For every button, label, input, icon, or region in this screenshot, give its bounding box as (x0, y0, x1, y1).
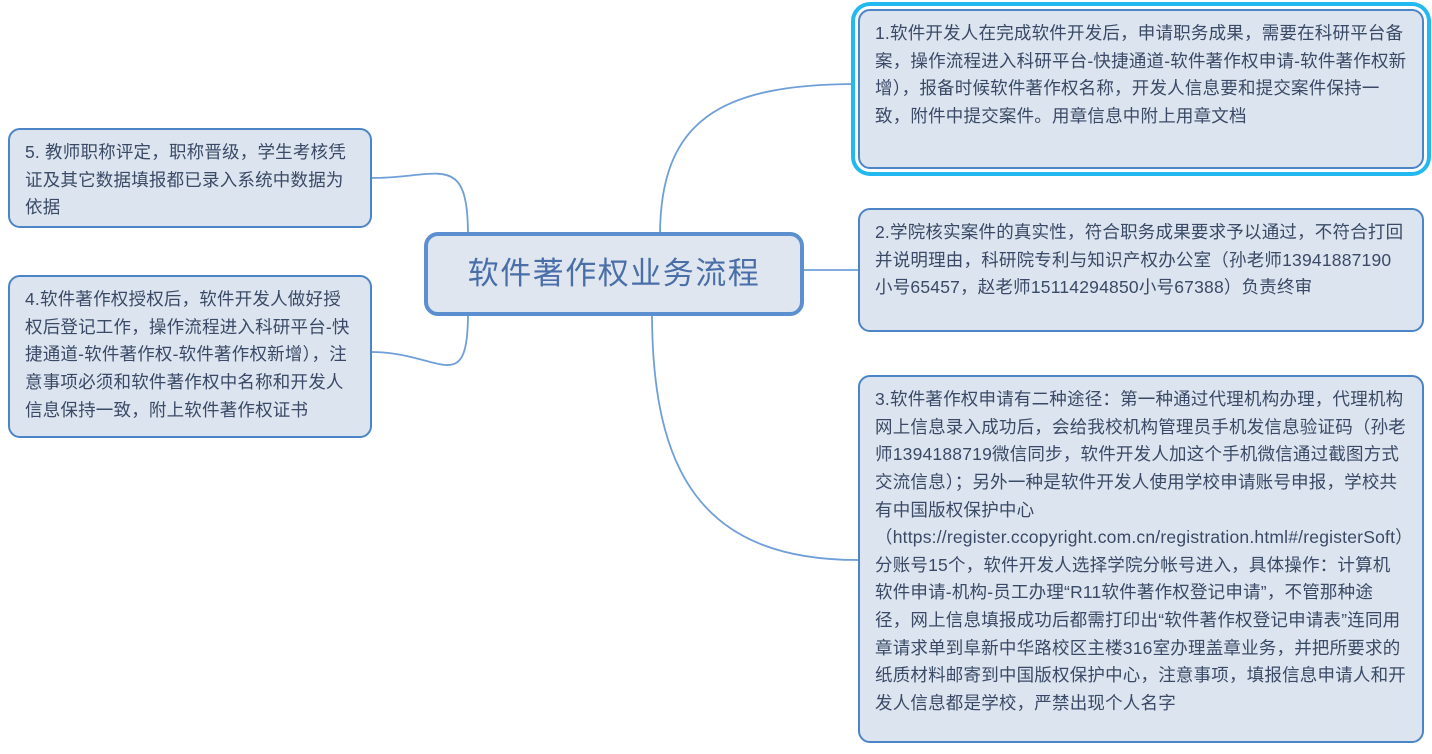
branch-node-4[interactable]: 4.软件著作权授权后，软件开发人做好授权后登记工作，操作流程进入科研平台-快捷通… (8, 275, 372, 438)
branch-node-2-text: 2.学院核实案件的真实性，符合职务成果要求予以通过，不符合打回并说明理由，科研院… (875, 222, 1403, 297)
mindmap-canvas: 软件著作权业务流程 1.软件开发人在完成软件开发后，申请职务成果，需要在科研平台… (0, 0, 1432, 754)
branch-node-1[interactable]: 1.软件开发人在完成软件开发后，申请职务成果，需要在科研平台备案，操作流程进入科… (858, 9, 1424, 169)
branch-node-3[interactable]: 3.软件著作权申请有二种途径：第一种通过代理机构办理，代理机构网上信息录入成功后… (858, 375, 1424, 743)
connector-central-to-node5 (372, 174, 468, 236)
central-topic-node[interactable]: 软件著作权业务流程 (424, 232, 804, 316)
branch-node-1-text: 1.软件开发人在完成软件开发后，申请职务成果，需要在科研平台备案，操作流程进入科… (875, 23, 1406, 126)
central-topic-label: 软件著作权业务流程 (468, 255, 761, 292)
connector-central-to-node3 (652, 312, 858, 560)
branch-node-4-text: 4.软件著作权授权后，软件开发人做好授权后登记工作，操作流程进入科研平台-快捷通… (25, 289, 350, 420)
branch-node-5[interactable]: 5. 教师职称评定，职称晋级，学生考核凭证及其它数据填报都已录入系统中数据为依据 (8, 128, 372, 228)
branch-node-5-text: 5. 教师职称评定，职称晋级，学生考核凭证及其它数据填报都已录入系统中数据为依据 (25, 142, 346, 217)
connector-central-to-node4 (372, 312, 468, 365)
connector-central-to-node1 (660, 84, 858, 236)
branch-node-2[interactable]: 2.学院核实案件的真实性，符合职务成果要求予以通过，不符合打回并说明理由，科研院… (858, 208, 1424, 332)
branch-node-3-text: 3.软件著作权申请有二种途径：第一种通过代理机构办理，代理机构网上信息录入成功后… (875, 389, 1406, 713)
